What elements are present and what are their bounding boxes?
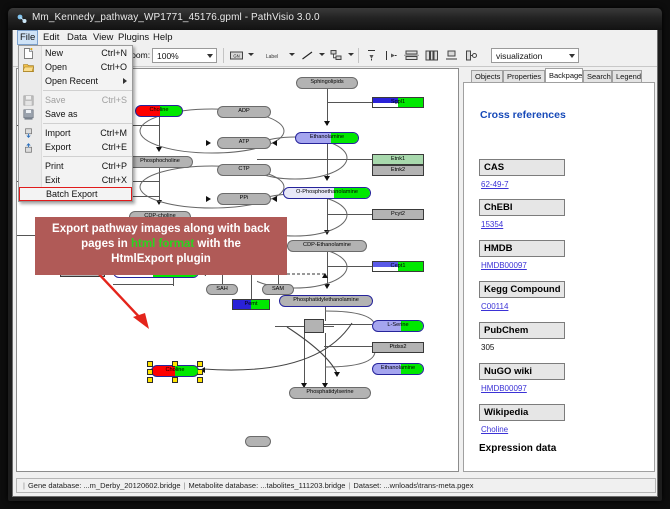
- line-tool-icon[interactable]: [300, 48, 315, 63]
- chevron-down-icon: [207, 54, 213, 58]
- cross-references-heading: Cross references: [480, 109, 566, 121]
- import-icon: [23, 128, 34, 139]
- backpage-content: Cross references CAS 62-49-7 ChEBI 15354…: [463, 82, 655, 472]
- menu-item-batch-export[interactable]: Batch Export: [19, 187, 132, 201]
- node-sphingolipids[interactable]: Sphingolipids: [296, 77, 358, 89]
- node-cdp-ethanolamine[interactable]: CDP-Ethanolamine: [287, 240, 367, 252]
- window-title: Mm_Kennedy_pathway_WP1771_45176.gpml - P…: [32, 12, 320, 23]
- node-unnamed-bottom[interactable]: [245, 436, 271, 447]
- svg-text:Label: Label: [266, 54, 278, 60]
- menu-item-export-label: Export: [45, 142, 71, 152]
- menu-item-new-label: New: [45, 48, 63, 58]
- menu-item-save-label: Save: [45, 95, 66, 105]
- menu-item-import-label: Import: [45, 128, 71, 138]
- menu-item-exit-accel: Ctrl+X: [102, 173, 127, 187]
- menu-bar: File Edit Data View Plugins Help: [13, 30, 657, 46]
- expression-data-heading: Expression data: [479, 443, 556, 454]
- menu-item-exit-label: Exit: [45, 175, 60, 185]
- xref-label-kegg: Kegg Compound: [479, 281, 565, 298]
- menu-item-print[interactable]: Print Ctrl+P: [19, 159, 132, 173]
- tab-backpage[interactable]: Backpage: [545, 68, 583, 82]
- node-etnk1[interactable]: Etnk1: [372, 154, 424, 165]
- app-body: File Edit Data View Plugins Help Zoom: 1…: [12, 30, 658, 497]
- menu-item-import-accel: Ctrl+M: [100, 126, 127, 140]
- status-separator-1: |: [181, 481, 189, 490]
- node-ethanolamine-1[interactable]: Ethanolamine: [295, 132, 359, 144]
- callout-line-1: Export pathway images along with back: [41, 222, 281, 237]
- menu-item-print-accel: Ctrl+P: [102, 159, 127, 173]
- node-pla2[interactable]: [304, 319, 324, 333]
- node-ptdss2[interactable]: Ptdss2: [372, 342, 424, 353]
- xref-label-pubchem: PubChem: [479, 322, 565, 339]
- visualization-combo[interactable]: visualization: [491, 48, 579, 63]
- stack-horizontal-icon[interactable]: [404, 48, 419, 63]
- interaction-tool-icon[interactable]: [329, 48, 344, 63]
- save-as-icon: [23, 109, 34, 120]
- title-bar[interactable]: Mm_Kennedy_pathway_WP1771_45176.gpml - P…: [8, 8, 662, 30]
- menu-item-save: Save Ctrl+S: [19, 93, 132, 107]
- node-sah[interactable]: SAH: [206, 284, 238, 295]
- node-choline-selected[interactable]: Choline: [151, 365, 199, 377]
- tab-legend[interactable]: Legend: [612, 70, 642, 82]
- side-panel-tabs: Objects Properties Backpage Search Legen…: [463, 68, 655, 82]
- callout-highlight: html format: [131, 238, 194, 250]
- xref-label-nugo: NuGO wiki: [479, 363, 565, 380]
- visualization-value: visualization: [496, 51, 542, 61]
- label-tool-icon[interactable]: Label: [259, 48, 285, 63]
- menu-edit[interactable]: Edit: [40, 31, 62, 44]
- status-bar: |Gene database: ...m_Derby_20120602.brid…: [16, 478, 656, 493]
- zoom-combo[interactable]: 100%: [152, 48, 217, 63]
- menu-item-print-label: Print: [45, 161, 64, 171]
- menu-plugins[interactable]: Plugins: [115, 31, 152, 44]
- screenshot-root: Mm_Kennedy_pathway_WP1771_45176.gpml - P…: [0, 0, 670, 509]
- menu-item-open-recent[interactable]: Open Recent: [19, 74, 132, 88]
- node-l-serine[interactable]: L-Serine: [372, 320, 424, 332]
- zoom-value: 100%: [157, 51, 179, 61]
- menu-item-save-as-label: Save as: [45, 109, 78, 119]
- xref-label-wikipedia: Wikipedia: [479, 404, 565, 421]
- node-ppi[interactable]: PPi: [217, 193, 271, 205]
- xref-label-cas: CAS: [479, 159, 565, 176]
- callout-line-2: pages in html format with the: [41, 237, 281, 252]
- application-window: Mm_Kennedy_pathway_WP1771_45176.gpml - P…: [8, 8, 662, 501]
- menu-item-new[interactable]: New Ctrl+N: [19, 46, 132, 60]
- node-phosphatidylethanolamine[interactable]: Phosphatidylethanolamine: [279, 295, 373, 307]
- menu-item-save-as[interactable]: Save as: [19, 107, 132, 121]
- xref-value-chebi[interactable]: 15354: [481, 220, 503, 229]
- node-phosphatidylserine[interactable]: Phosphatidylserine: [289, 387, 371, 399]
- node-sgpl1[interactable]: Sgpl1: [372, 97, 424, 108]
- menu-item-open-accel: Ctrl+O: [101, 60, 127, 74]
- new-file-icon: [23, 48, 34, 59]
- annotation-callout: Export pathway images along with back pa…: [35, 217, 287, 275]
- menu-data[interactable]: Data: [64, 31, 90, 44]
- xref-value-hmdb[interactable]: HMDB00097: [481, 261, 527, 270]
- menu-help[interactable]: Help: [150, 31, 176, 44]
- open-folder-icon: [23, 62, 34, 73]
- tab-objects[interactable]: Objects: [471, 70, 503, 82]
- xref-label-hmdb: HMDB: [479, 240, 565, 257]
- ps-to-choline-path: [282, 323, 372, 393]
- menu-item-new-accel: Ctrl+N: [101, 46, 127, 60]
- xref-value-kegg[interactable]: C00114: [481, 302, 508, 311]
- menu-item-open-recent-label: Open Recent: [45, 76, 98, 86]
- file-menu-popup[interactable]: New Ctrl+N Open Ctrl+O Open Recent Save …: [18, 45, 133, 202]
- node-phosphocholine[interactable]: Phosphocholine: [127, 156, 193, 168]
- pathvisio-icon: [17, 14, 27, 24]
- group-icon[interactable]: [444, 48, 459, 63]
- tab-search[interactable]: Search: [583, 70, 612, 82]
- tab-properties[interactable]: Properties: [503, 70, 545, 82]
- node-etnk2[interactable]: Etnk2: [372, 165, 424, 176]
- distribute-icon[interactable]: [424, 48, 439, 63]
- order-icon[interactable]: [464, 48, 479, 63]
- status-gene-database: Gene database: ...m_Derby_20120602.bridg…: [28, 481, 181, 490]
- menu-item-export-accel: Ctrl+E: [102, 140, 127, 154]
- menu-divider: [43, 90, 132, 91]
- menu-item-open-label: Open: [45, 62, 67, 72]
- datanode-dropdown-caret[interactable]: [248, 53, 254, 56]
- label-dropdown-caret[interactable]: [289, 53, 295, 56]
- callout-line-3: HtmlExport plugin: [41, 252, 281, 267]
- line-dropdown-caret[interactable]: [319, 53, 325, 56]
- node-ethanolamine-2[interactable]: Ethanolamine: [372, 363, 424, 375]
- menu-view[interactable]: View: [90, 31, 116, 44]
- xref-label-chebi: ChEBI: [479, 199, 565, 216]
- node-choline[interactable]: Choline: [135, 105, 183, 117]
- node-adp[interactable]: ADP: [217, 106, 271, 118]
- status-dataset: Dataset: ...wnloads\trans-meta.pgex: [353, 481, 473, 490]
- node-cept1[interactable]: Cept1: [372, 261, 424, 272]
- menu-file[interactable]: File: [17, 30, 38, 45]
- align-top-icon[interactable]: [364, 48, 379, 63]
- export-icon: [23, 142, 34, 153]
- menu-item-import[interactable]: Import Ctrl+M: [19, 126, 132, 140]
- callout-line2-b: with the: [194, 238, 241, 250]
- menu-item-open[interactable]: Open Ctrl+O: [19, 60, 132, 74]
- menu-divider: [43, 123, 132, 124]
- xref-value-wikipedia[interactable]: Choline: [481, 425, 508, 434]
- menu-item-exit[interactable]: Exit Ctrl+X: [19, 173, 132, 187]
- node-o-phosphoethanolamine[interactable]: O-Phosphoethanolamine: [283, 187, 371, 199]
- submenu-chevron-icon: [123, 78, 127, 84]
- node-ctp[interactable]: CTP: [217, 164, 271, 176]
- side-panel: Objects Properties Backpage Search Legen…: [463, 68, 655, 472]
- menu-divider: [43, 156, 132, 157]
- interaction-dropdown-caret[interactable]: [348, 53, 354, 56]
- node-sam[interactable]: SAM: [262, 284, 294, 295]
- menu-item-save-accel: Ctrl+S: [102, 93, 127, 107]
- callout-line2-a: pages in: [81, 238, 131, 250]
- xref-value-nugo[interactable]: HMDB00097: [481, 384, 527, 393]
- menu-item-export[interactable]: Export Ctrl+E: [19, 140, 132, 154]
- node-pcyt2[interactable]: Pcyt2: [372, 209, 424, 220]
- node-pemt[interactable]: Pemt: [232, 299, 270, 310]
- status-metabolite-database: Metabolite database: ...tabolites_111203…: [189, 481, 346, 490]
- align-left-icon[interactable]: [384, 48, 399, 63]
- datanode-tool-icon[interactable]: GN: [229, 48, 244, 63]
- status-separator-0: |: [20, 481, 28, 490]
- xref-value-cas[interactable]: 62-49-7: [481, 180, 509, 189]
- chevron-down-icon: [569, 54, 575, 58]
- node-atp[interactable]: ATP: [217, 137, 271, 149]
- save-disk-icon: [23, 95, 34, 106]
- menu-item-batch-export-label: Batch Export: [46, 189, 98, 199]
- xref-value-pubchem: 305: [481, 343, 494, 352]
- svg-text:GN: GN: [233, 53, 239, 58]
